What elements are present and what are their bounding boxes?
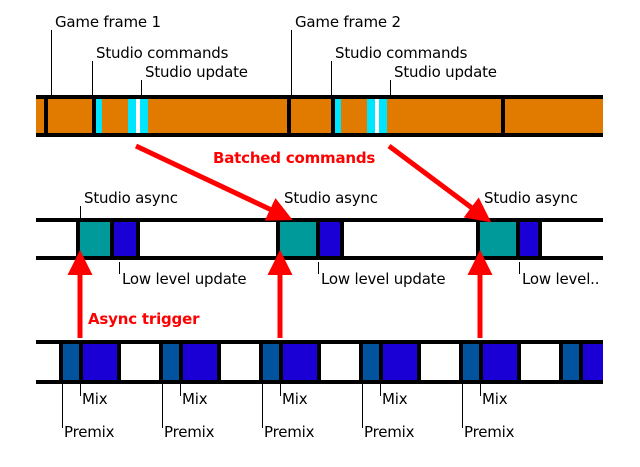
label-mixer-thread: Mix bbox=[382, 391, 407, 408]
leader-line bbox=[92, 61, 93, 95]
segment-studio-command bbox=[367, 99, 375, 133]
segment-divider bbox=[340, 222, 344, 256]
segment-divider bbox=[316, 222, 320, 256]
label-game-thread: Game frame 1 bbox=[55, 14, 161, 31]
game-frame-track bbox=[36, 95, 603, 137]
segment-divider bbox=[479, 344, 483, 380]
studio-async-track bbox=[36, 218, 603, 260]
segment-mix bbox=[582, 344, 603, 380]
label-game-thread: Studio update bbox=[145, 64, 248, 81]
leader-line bbox=[480, 384, 481, 396]
segment-divider bbox=[76, 222, 80, 256]
segment-premix bbox=[263, 344, 279, 380]
segment-divider bbox=[287, 99, 291, 133]
segment-divider bbox=[331, 99, 335, 133]
segment-divider bbox=[559, 344, 563, 380]
leader-line bbox=[390, 80, 391, 95]
leader-line bbox=[462, 384, 463, 428]
label-mixer-thread: Premix bbox=[164, 424, 214, 441]
segment-game-frame bbox=[387, 99, 501, 133]
leader-line bbox=[280, 384, 281, 396]
segment-studio-async bbox=[80, 222, 110, 256]
batched-arrow-2 bbox=[389, 146, 480, 214]
segment-divider bbox=[117, 344, 121, 380]
leader-line bbox=[480, 206, 481, 218]
label-game-thread: Studio commands bbox=[335, 45, 467, 62]
label-studio-thread: Low level.. bbox=[522, 271, 599, 288]
leader-line bbox=[80, 206, 81, 218]
segment-divider bbox=[59, 344, 63, 380]
leader-line bbox=[162, 384, 163, 428]
segment-game-frame bbox=[148, 99, 287, 133]
segment-divider bbox=[259, 344, 263, 380]
leader-line bbox=[280, 206, 281, 218]
segment-divider bbox=[279, 344, 283, 380]
label-mixer-thread: Premix bbox=[464, 424, 514, 441]
segment-studio-command bbox=[140, 99, 148, 133]
async-trigger-label: Async trigger bbox=[88, 311, 199, 328]
segment-mix bbox=[282, 344, 317, 380]
segment-divider bbox=[379, 344, 383, 380]
segment-premix bbox=[363, 344, 379, 380]
segment-game-frame bbox=[505, 99, 603, 133]
segment-game-frame bbox=[291, 99, 331, 133]
segment-mix bbox=[182, 344, 217, 380]
diagram-canvas: Game frame 1Studio commandsStudio update… bbox=[0, 0, 640, 467]
leader-line bbox=[51, 30, 52, 95]
segment-divider bbox=[159, 344, 163, 380]
label-game-thread: Studio update bbox=[394, 64, 497, 81]
segment-low-level-update bbox=[114, 222, 136, 256]
leader-line bbox=[180, 384, 181, 396]
segment-mix bbox=[482, 344, 517, 380]
segment-low-level-update bbox=[320, 222, 340, 256]
leader-line bbox=[119, 262, 120, 274]
label-studio-thread: Low level update bbox=[321, 271, 445, 288]
segment-mix bbox=[382, 344, 417, 380]
segment-divider bbox=[276, 222, 280, 256]
segment-divider bbox=[136, 222, 140, 256]
segment-studio-async bbox=[280, 222, 316, 256]
leader-line bbox=[80, 384, 81, 396]
segment-game-frame bbox=[36, 99, 44, 133]
segment-premix bbox=[163, 344, 179, 380]
segment-divider bbox=[110, 222, 114, 256]
segment-divider bbox=[579, 344, 583, 380]
label-studio-thread: Low level update bbox=[122, 271, 246, 288]
segment-premix bbox=[63, 344, 79, 380]
segment-mix bbox=[82, 344, 117, 380]
leader-line bbox=[291, 30, 292, 95]
segment-divider bbox=[92, 99, 96, 133]
segment-divider bbox=[417, 344, 421, 380]
segment-studio-command bbox=[128, 99, 136, 133]
label-mixer-thread: Premix bbox=[64, 424, 114, 441]
segment-divider bbox=[459, 344, 463, 380]
segment-divider bbox=[517, 344, 521, 380]
segment-divider bbox=[44, 99, 48, 133]
segment-divider bbox=[317, 344, 321, 380]
label-game-thread: Game frame 2 bbox=[295, 14, 401, 31]
label-game-thread: Studio commands bbox=[96, 45, 228, 62]
segment-divider bbox=[179, 344, 183, 380]
segment-divider bbox=[501, 99, 505, 133]
leader-line bbox=[62, 384, 63, 428]
leader-line bbox=[362, 384, 363, 428]
leader-line bbox=[331, 61, 332, 95]
segment-divider bbox=[538, 222, 542, 256]
segment-divider bbox=[217, 344, 221, 380]
segment-studio-async bbox=[480, 222, 516, 256]
segment-studio-command bbox=[379, 99, 387, 133]
label-mixer-thread: Premix bbox=[364, 424, 414, 441]
batched-commands-label: Batched commands bbox=[213, 150, 375, 167]
label-studio-thread: Studio async bbox=[284, 190, 378, 207]
segment-divider bbox=[79, 344, 83, 380]
label-mixer-thread: Mix bbox=[282, 391, 307, 408]
label-mixer-thread: Premix bbox=[264, 424, 314, 441]
leader-line bbox=[519, 262, 520, 274]
segment-divider bbox=[359, 344, 363, 380]
label-mixer-thread: Mix bbox=[182, 391, 207, 408]
label-mixer-thread: Mix bbox=[82, 391, 107, 408]
leader-line bbox=[141, 80, 142, 95]
segment-game-frame bbox=[48, 99, 92, 133]
mixer-track bbox=[36, 340, 603, 384]
segment-divider bbox=[476, 222, 480, 256]
label-mixer-thread: Mix bbox=[482, 391, 507, 408]
segment-game-frame bbox=[102, 99, 128, 133]
segment-divider bbox=[516, 222, 520, 256]
label-studio-thread: Studio async bbox=[84, 190, 178, 207]
leader-line bbox=[262, 384, 263, 428]
label-studio-thread: Studio async bbox=[484, 190, 578, 207]
leader-line bbox=[318, 262, 319, 274]
segment-game-frame bbox=[341, 99, 367, 133]
segment-premix bbox=[463, 344, 479, 380]
segment-premix bbox=[563, 344, 579, 380]
leader-line bbox=[380, 384, 381, 396]
segment-low-level-update bbox=[520, 222, 538, 256]
